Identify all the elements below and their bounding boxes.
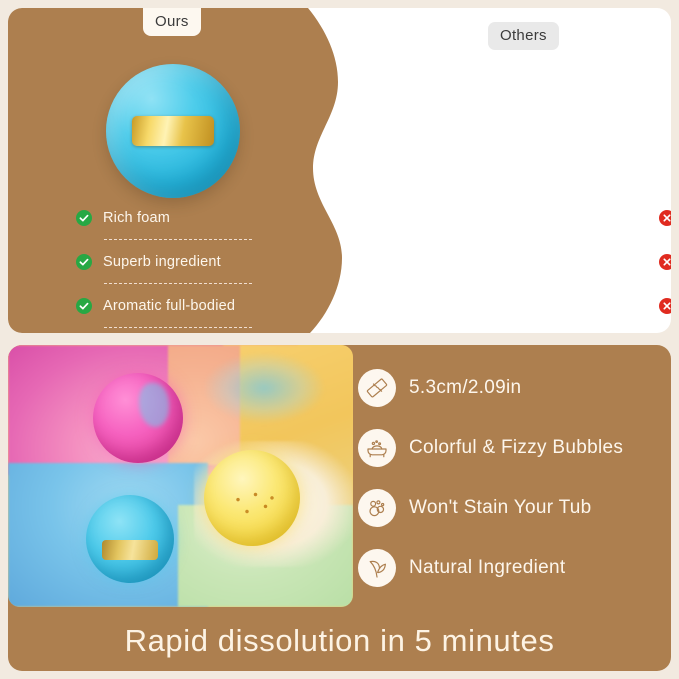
ruler-icon bbox=[358, 369, 396, 407]
others-feature-list: Low foam Inferior ingredient Light fragr… bbox=[659, 203, 671, 321]
list-item-label: Won't Stain Your Tub bbox=[409, 497, 592, 519]
check-icon bbox=[76, 298, 92, 314]
cross-icon bbox=[659, 254, 671, 270]
list-item: Rich foam bbox=[76, 203, 276, 233]
list-item: Superb ingredient bbox=[76, 247, 276, 277]
list-item: Aromatic full-bodied bbox=[76, 291, 276, 321]
cross-icon bbox=[659, 298, 671, 314]
list-item: Low foam bbox=[659, 203, 671, 233]
divider bbox=[104, 239, 252, 240]
tagline: Rapid dissolution in 5 minutes bbox=[8, 612, 671, 670]
cyan-bath-bomb bbox=[86, 495, 174, 583]
bubbles-icon bbox=[358, 489, 396, 527]
cross-icon bbox=[659, 210, 671, 226]
ours-feature-list: Rich foam Superb ingredient Aromatic ful… bbox=[76, 203, 276, 321]
others-badge: Others bbox=[488, 22, 559, 50]
list-item-label: Natural Ingredient bbox=[409, 557, 565, 579]
yellow-bath-bomb bbox=[204, 450, 300, 546]
ours-badge: Ours bbox=[143, 8, 201, 36]
list-item: Colorful & Fizzy Bubbles bbox=[358, 426, 668, 470]
bathtub-icon bbox=[358, 429, 396, 467]
list-item-label: Rich foam bbox=[103, 210, 170, 226]
list-item: Inferior ingredient bbox=[659, 247, 671, 277]
list-item-label: Aromatic full-bodied bbox=[103, 298, 235, 314]
list-item: Light fragrance bbox=[659, 291, 671, 321]
divider bbox=[104, 283, 252, 284]
check-icon bbox=[76, 254, 92, 270]
check-icon bbox=[76, 210, 92, 226]
list-item-label: 5.3cm/2.09in bbox=[409, 377, 521, 399]
list-item: 5.3cm/2.09in bbox=[358, 366, 668, 410]
specs-list: 5.3cm/2.09in Colorful & Fizzy Bubbles bbox=[358, 366, 668, 590]
leaf-icon bbox=[358, 549, 396, 587]
infographic-root: Low foam Inferior ingredient Light fragr… bbox=[0, 0, 679, 679]
pink-bath-bomb bbox=[93, 373, 183, 463]
list-item: Natural Ingredient bbox=[358, 546, 668, 590]
product-photo bbox=[8, 345, 353, 607]
list-item-label: Colorful & Fizzy Bubbles bbox=[409, 437, 623, 459]
list-item-label: Superb ingredient bbox=[103, 254, 221, 270]
comparison-block: Low foam Inferior ingredient Light fragr… bbox=[8, 8, 671, 333]
ours-card: Rich foam Superb ingredient Aromatic ful… bbox=[8, 8, 348, 333]
ours-product-image bbox=[106, 64, 240, 198]
list-item: Won't Stain Your Tub bbox=[358, 486, 668, 530]
divider bbox=[104, 327, 252, 328]
